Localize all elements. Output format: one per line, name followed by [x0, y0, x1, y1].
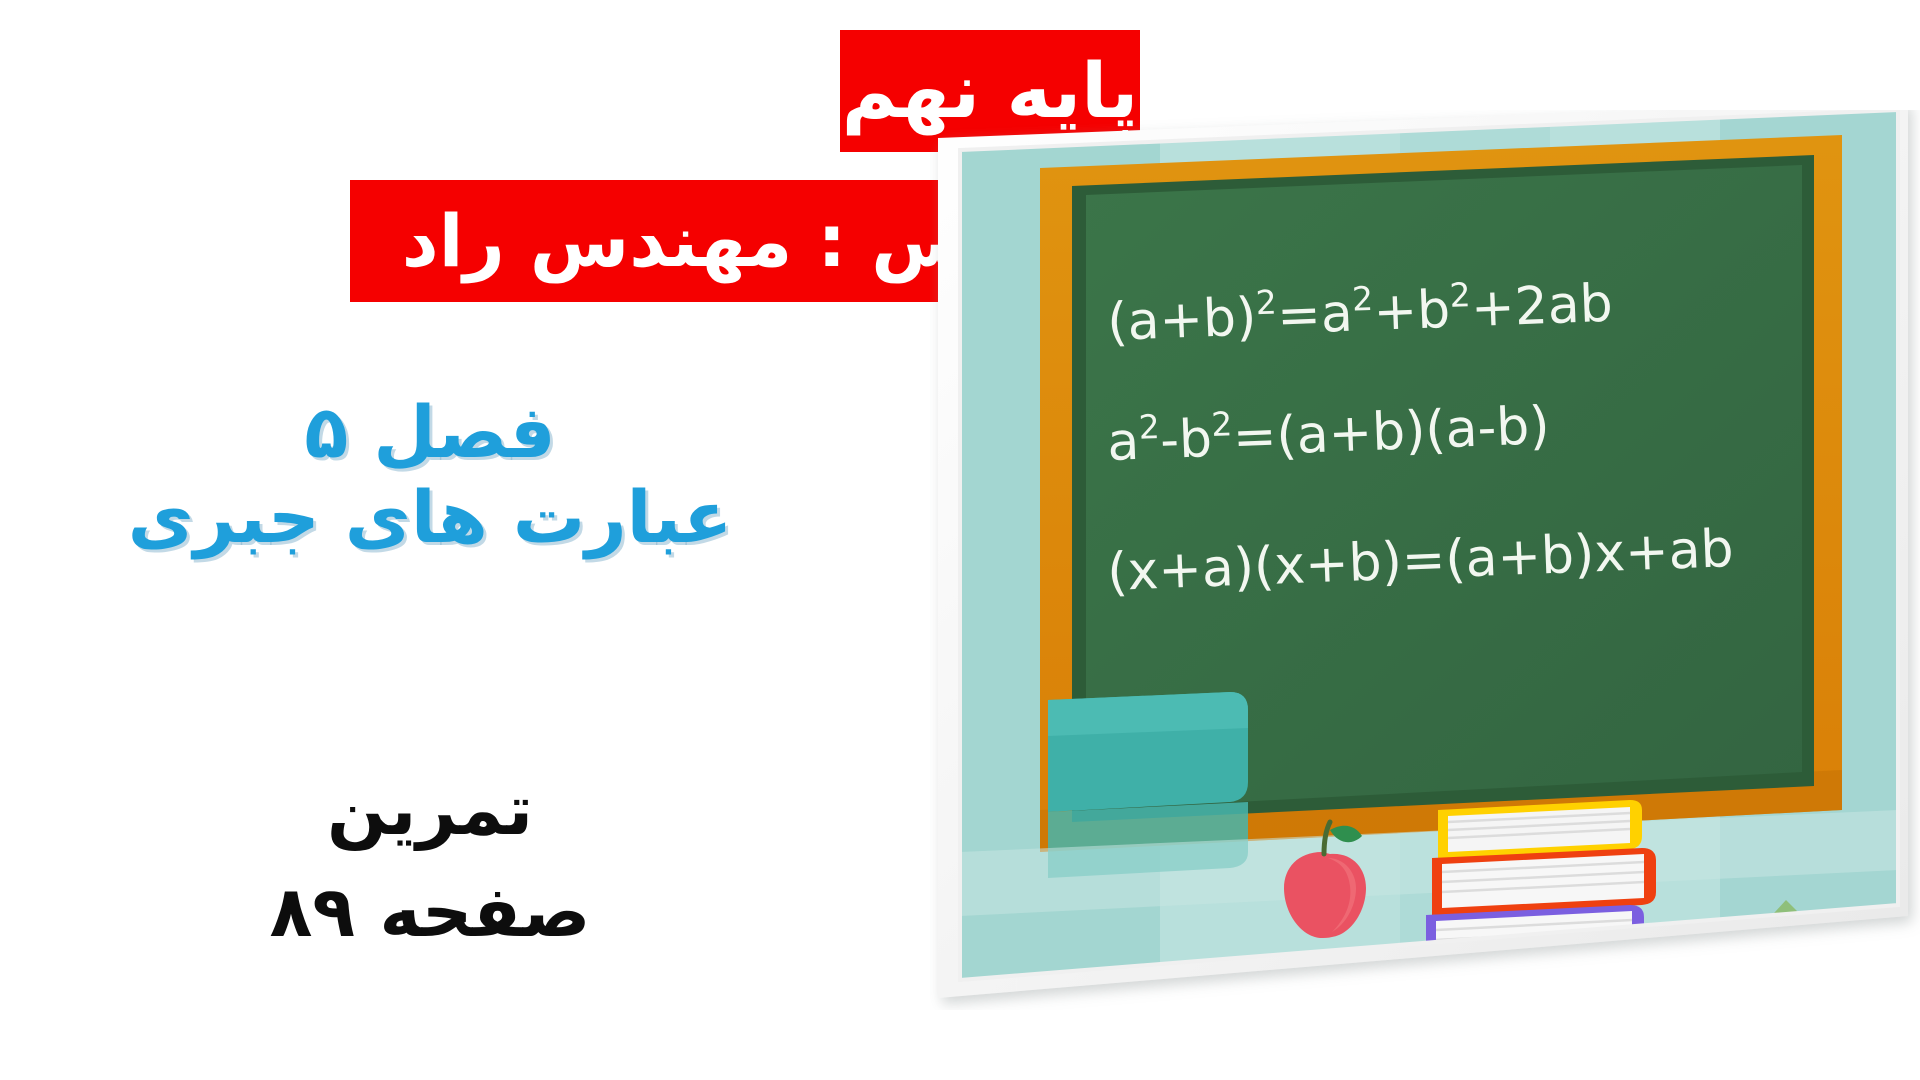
exercise-heading: تمرین صفحه ۸۹: [60, 760, 800, 963]
blackboard-illustration: (a+b)2=a2+b2+2ab a2-b2=(a+b)(a-b) (x+a)(…: [930, 110, 1920, 1010]
slide-canvas: پایه نهم مدرس : مهندس راد فصل ۵ عبارت ها…: [0, 0, 1920, 1080]
chapter-heading: فصل ۵ عبارت های جبری: [60, 390, 800, 560]
chapter-title: عبارت های جبری: [60, 475, 800, 560]
exercise-label: تمرین: [60, 760, 800, 862]
board-scene: (a+b)2=a2+b2+2ab a2-b2=(a+b)(a-b) (x+a)(…: [960, 110, 1898, 980]
exercise-page: صفحه ۸۹: [60, 862, 800, 964]
chapter-number: فصل ۵: [60, 390, 800, 475]
